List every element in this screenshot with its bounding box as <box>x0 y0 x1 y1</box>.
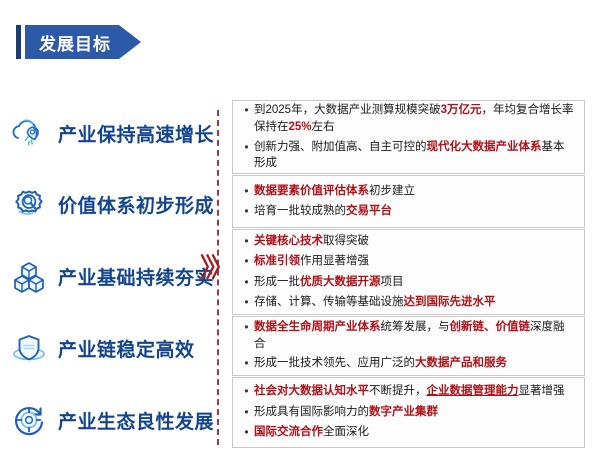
bullet-dot-icon: • <box>239 383 254 400</box>
highlight-segment: 数据全生命周期产业体系 <box>254 321 381 333</box>
bullet-item: •到2025年，大数据产业测算规模突破3万亿元，年均复合增长率保持在25%左右 <box>239 102 575 135</box>
highlight-segment: 大数据产品和服务 <box>415 357 507 369</box>
text-segment: 项目 <box>381 276 404 288</box>
text-segment: 形成具有国际影响力的 <box>254 406 369 418</box>
bullet-dot-icon: • <box>239 183 254 200</box>
text-segment: 统筹发展，与 <box>381 321 450 333</box>
highlight-segment: 达到国际先进水平 <box>404 296 496 308</box>
bullet-dot-icon: • <box>239 102 254 119</box>
page-title: 发展目标 <box>39 30 111 55</box>
text-segment: 培育一批较成熟的 <box>254 205 346 217</box>
pillar-item-4[interactable]: 产业链稳定高效 <box>0 319 205 377</box>
highlight-segment: 企业数据管理能力 <box>427 385 519 397</box>
text-segment: 不断提升， <box>369 385 427 397</box>
text-segment: 左右 <box>312 121 335 133</box>
bullet-item: •数据要素价值评估体系初步建立 <box>239 183 575 200</box>
bullet-dot-icon: • <box>239 404 254 421</box>
pillar-label-2: 价值体系初步形成 <box>58 191 214 218</box>
bullet-dot-icon: • <box>239 319 254 336</box>
bullet-dot-icon: • <box>239 139 254 156</box>
bullet-text: 存储、计算、传输等基础设施达到国际先进水平 <box>254 294 575 311</box>
shield-orbit-icon <box>8 327 50 369</box>
bullet-dot-icon: • <box>239 203 254 220</box>
highlight-segment: 国际交流合作 <box>254 426 323 438</box>
bullet-text: 形成具有国际影响力的数字产业集群 <box>254 404 575 421</box>
bullet-item: •培育一批较成熟的交易平台 <box>239 203 575 220</box>
pillar-label-3: 产业基础持续夯实 <box>58 263 214 290</box>
bullet-text: 数据全生命周期产业体系统筹发展，与创新链、价值链深度融合 <box>254 319 575 352</box>
content-box-4: •数据全生命周期产业体系统筹发展，与创新链、价值链深度融合•形成一批技术领先、应… <box>232 316 585 376</box>
highlight-segment: 优质大数据开源 <box>300 276 381 288</box>
pillar-item-2[interactable]: 价值体系初步形成 <box>0 176 205 234</box>
bullet-dot-icon: • <box>239 253 254 270</box>
chevron-right-icon: 〉〉〉 <box>200 255 227 281</box>
content-box-list: •到2025年，大数据产业测算规模突破3万亿元，年均复合增长率保持在25%左右•… <box>232 100 585 448</box>
bullet-item: •数据全生命周期产业体系统筹发展，与创新链、价值链深度融合 <box>239 319 575 352</box>
highlight-segment: 3万亿元 <box>441 104 482 116</box>
highlight-segment: 数字产业集群 <box>369 406 438 418</box>
bullet-text: 到2025年，大数据产业测算规模突破3万亿元，年均复合增长率保持在25%左右 <box>254 102 575 135</box>
bullet-text: 社会对大数据认知水平不断提升，企业数据管理能力显著增强 <box>254 383 575 400</box>
bullet-item: •存储、计算、传输等基础设施达到国际先进水平 <box>239 294 575 311</box>
text-segment: 作用显著增强 <box>300 255 369 267</box>
text-segment: 到2025年，大数据产业测算规模突破 <box>254 104 441 116</box>
content-box-2: •数据要素价值评估体系初步建立•培育一批较成熟的交易平台 <box>232 175 585 228</box>
bullet-item: •标准引领作用显著增强 <box>239 253 575 270</box>
bullet-text: 创新力强、附加值高、自主可控的现代化大数据产业体系基本形成 <box>254 139 575 172</box>
pillar-item-1[interactable]: 产业保持高速增长 <box>0 104 205 162</box>
pillar-item-5[interactable]: 产业生态良性发展 <box>0 391 205 449</box>
content-box-5: •社会对大数据认知水平不断提升，企业数据管理能力显著增强•形成具有国际影响力的数… <box>232 377 585 448</box>
bullet-text: 培育一批较成熟的交易平台 <box>254 203 575 220</box>
bullet-dot-icon: • <box>239 294 254 311</box>
text-segment: 存储、计算、传输等基础设施 <box>254 296 404 308</box>
pillar-item-3[interactable]: 产业基础持续夯实 <box>0 248 205 306</box>
pillar-label-1: 产业保持高速增长 <box>58 120 214 147</box>
gear-wrench-icon <box>8 184 50 226</box>
bullet-item: •形成一批优质大数据开源项目 <box>239 274 575 291</box>
text-segment: 初步建立 <box>369 185 415 197</box>
text-segment: 取得突破 <box>323 235 369 247</box>
content-box-3: •关键核心技术取得突破•标准引领作用显著增强•形成一批优质大数据开源项目•存储、… <box>232 229 585 315</box>
bullet-dot-icon: • <box>239 424 254 441</box>
title-accent-bar <box>16 25 21 59</box>
text-segment: 创新力强、附加值高、自主可控的 <box>254 141 427 153</box>
bullet-text: 形成一批优质大数据开源项目 <box>254 274 575 291</box>
cycle-target-icon <box>8 399 50 441</box>
bullet-text: 国际交流合作全面深化 <box>254 424 575 441</box>
text-segment: 显著增强 <box>519 385 565 397</box>
highlight-segment: 25% <box>289 121 312 133</box>
bullet-dot-icon: • <box>239 233 254 250</box>
text-segment: 形成一批 <box>254 276 300 288</box>
text-segment: 形成一批技术领先、应用广泛的 <box>254 357 415 369</box>
pillar-list: 产业保持高速增长 价值体系初步形成 <box>0 104 205 449</box>
bullet-item: •国际交流合作全面深化 <box>239 424 575 441</box>
bullet-text: 形成一批技术领先、应用广泛的大数据产品和服务 <box>254 355 575 372</box>
bullet-item: •关键核心技术取得突破 <box>239 233 575 250</box>
text-segment: 全面深化 <box>323 426 369 438</box>
title-pennant-shape: 发展目标 <box>25 25 141 59</box>
bullet-item: •形成一批技术领先、应用广泛的大数据产品和服务 <box>239 355 575 372</box>
cubes-icon <box>8 256 50 298</box>
cloud-rocket-icon <box>8 112 50 154</box>
highlight-segment: 社会对大数据认知水平 <box>254 385 369 397</box>
content-box-1: •到2025年，大数据产业测算规模突破3万亿元，年均复合增长率保持在25%左右•… <box>232 100 585 174</box>
bullet-text: 数据要素价值评估体系初步建立 <box>254 183 575 200</box>
bullet-item: •创新力强、附加值高、自主可控的现代化大数据产业体系基本形成 <box>239 139 575 172</box>
bullet-item: •社会对大数据认知水平不断提升，企业数据管理能力显著增强 <box>239 383 575 400</box>
highlight-segment: 创新链、价值链 <box>450 321 531 333</box>
pillar-label-4: 产业链稳定高效 <box>58 335 195 362</box>
highlight-segment: 数据要素价值评估体系 <box>254 185 369 197</box>
highlight-segment: 交易平台 <box>346 205 392 217</box>
highlight-segment: 关键核心技术 <box>254 235 323 247</box>
bullet-item: •形成具有国际影响力的数字产业集群 <box>239 404 575 421</box>
bullet-dot-icon: • <box>239 274 254 291</box>
bullet-text: 标准引领作用显著增强 <box>254 253 575 270</box>
pillar-label-5: 产业生态良性发展 <box>58 407 214 434</box>
highlight-segment: 现代化大数据产业体系 <box>427 141 542 153</box>
bullet-dot-icon: • <box>239 355 254 372</box>
highlight-segment: 标准引领 <box>254 255 300 267</box>
page-title-banner: 发展目标 <box>16 25 141 59</box>
bullet-text: 关键核心技术取得突破 <box>254 233 575 250</box>
